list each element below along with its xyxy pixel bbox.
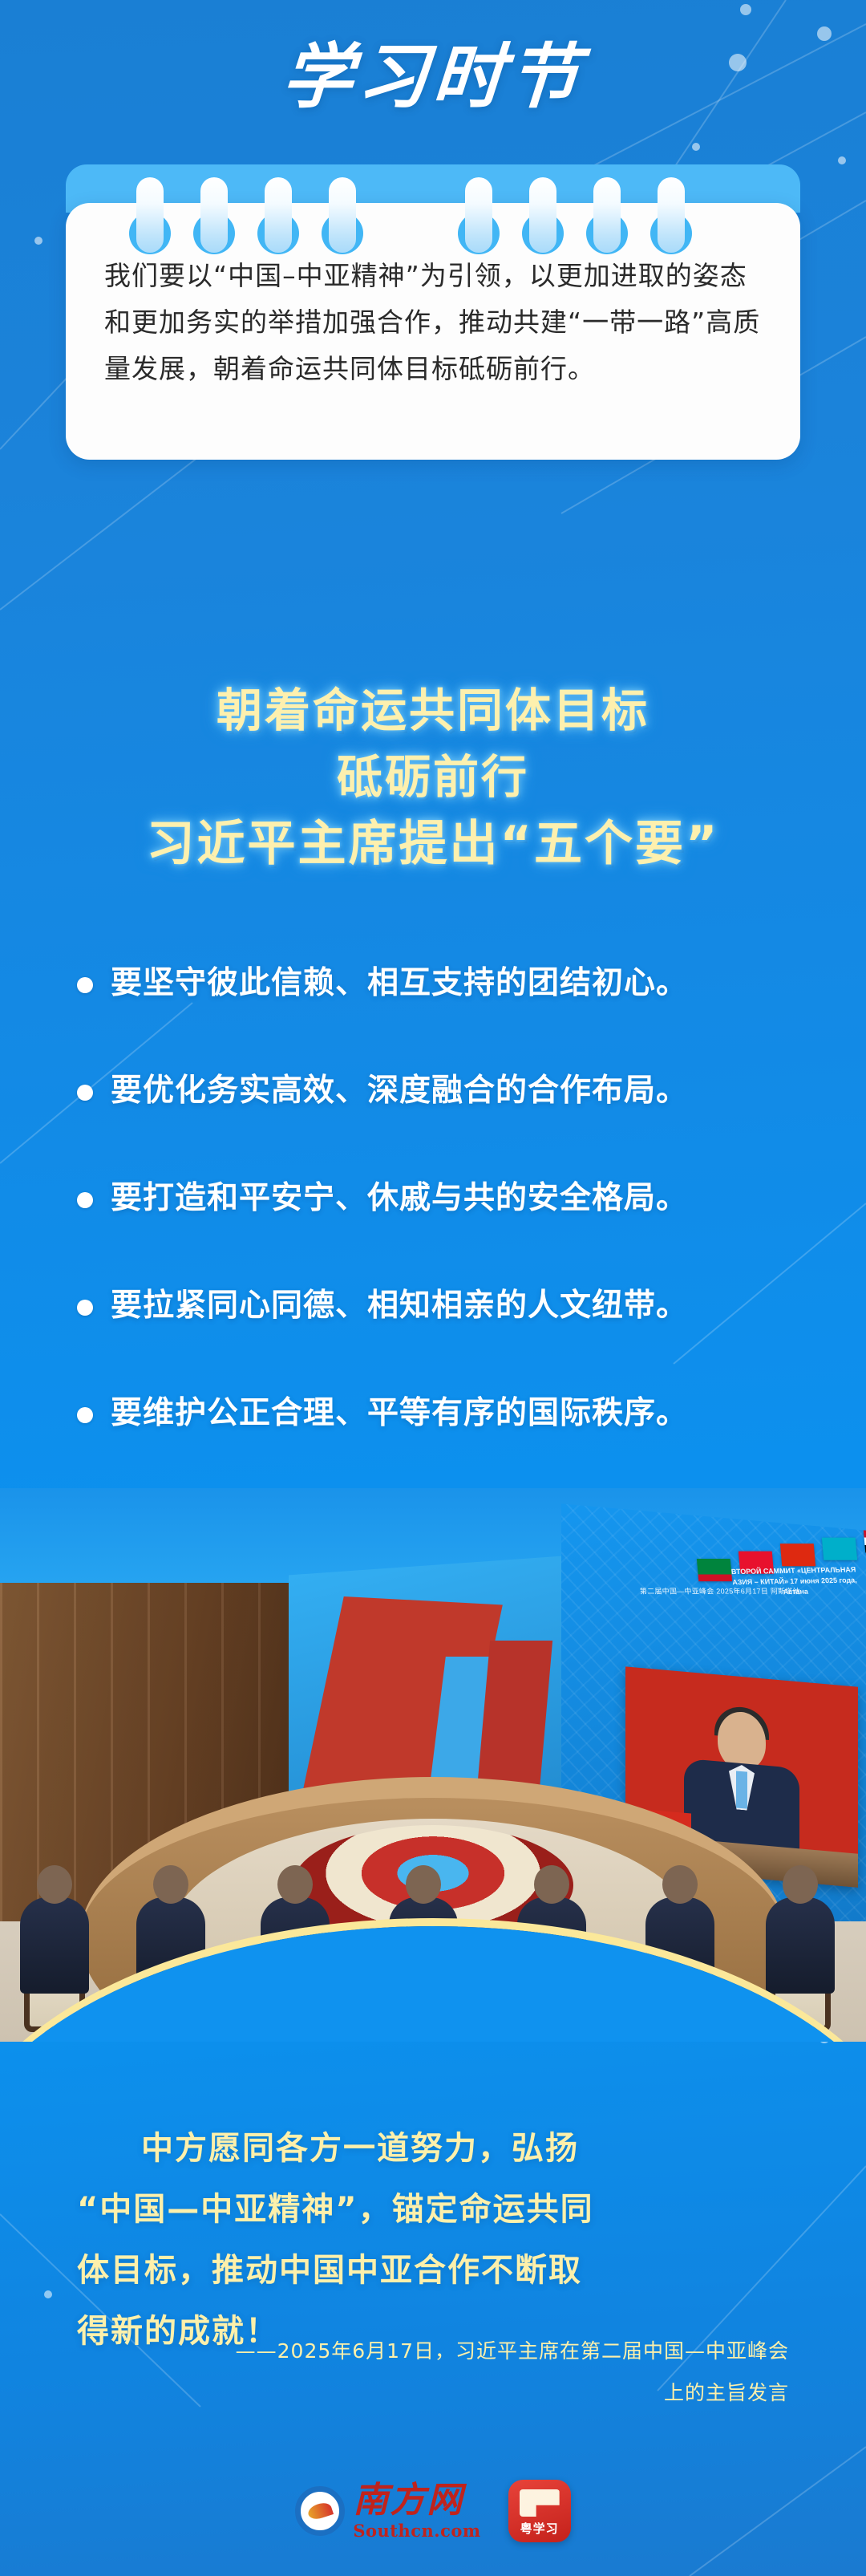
bullet-text: 要优化务实高效、深度融合的合作布局。 [111,1066,688,1114]
bullet-dot-icon [77,977,93,993]
flag-kazakhstan-icon [822,1538,857,1560]
book-icon [520,2489,560,2517]
delegate [20,1897,89,1994]
binder-ring-icon [265,177,292,254]
closing-quote-line-1: 中方愿同各方一道努力，弘扬 [77,2118,789,2179]
southcn-wordmark: 南方网 Southcn.com [353,2483,480,2539]
bullet-dot-icon [77,1192,93,1208]
bullet-text: 要打造和平安宁、休戚与共的安全格局。 [111,1174,688,1222]
summit-photo-image: 第二届中国—中亚峰会 2025年6月17日 阿斯塔纳 ВТОРОЙ САММИТ… [0,1488,866,2042]
headline-line-3: 习近平主席提出“五个要” [0,811,866,878]
delegate [766,1897,835,1994]
binder-ring-icon [529,177,556,254]
binder-ring-icon [136,177,164,254]
flag-china-icon [780,1544,815,1566]
yuexuexi-app-icon[interactable]: 粤学习 [508,2480,571,2542]
binder-ring-icon [465,177,492,254]
headline-line-2: 砥砺前行 [0,744,866,811]
bullet-dot-icon [77,1407,93,1423]
yuexuexi-label: 粤学习 [520,2520,559,2537]
poster-root: 学习时节 我们要以“中国–中亚精神”为引领，以更加进取的姿态和更加务实的举措加强… [0,0,866,2576]
binder-ring-icon [329,177,356,254]
bullet-dot-icon [77,1085,93,1101]
bullet-text: 要维护公正合理、平等有序的国际秩序。 [111,1389,688,1437]
poster-header: 学习时节 [0,0,866,152]
quote-attribution: ——2025年6月17日，习近平主席在第二届中国—中亚峰会 上的主旨发言 [77,2331,789,2414]
closing-quote: 中方愿同各方一道努力，弘扬 “中国—中亚精神”，锚定命运共同 体目标，推动中国中… [77,2118,789,2362]
bullet-text: 要坚守彼此信赖、相互支持的团结初心。 [111,959,688,1007]
list-item: 要拉紧同心同德、相知相亲的人文纽带。 [0,1281,866,1389]
list-item: 要坚守彼此信赖、相互支持的团结初心。 [0,959,866,1066]
southcn-name-cn: 南方网 [353,2483,480,2518]
southcn-name-en: Southcn.com [353,2522,480,2539]
bullet-text: 要拉紧同心同德、相知相亲的人文纽带。 [111,1281,688,1329]
binder-ring-icon [593,177,621,254]
summit-photo: 第二届中国—中亚峰会 2025年6月17日 阿斯塔纳 ВТОРОЙ САММИТ… [0,1488,866,2042]
screen-caption-ru: ВТОРОЙ САММИТ «ЦЕНТРАЛЬНАЯ АЗИЯ – КИТАЙ»… [725,1564,864,1598]
binder-ring-icon [200,177,228,254]
closing-quote-line-3: 体目标，推动中国中亚合作不断取 [77,2240,789,2301]
page-title: 学习时节 [280,41,586,112]
quote-text: 我们要以“中国–中亚精神”为引领，以更加进取的姿态和更加务实的举措加强合作，推动… [104,253,765,392]
footer-logos: 南方网 Southcn.com 粤学习 [0,2467,866,2555]
southcn-mark-icon [295,2486,345,2536]
list-item: 要打造和平安宁、休戚与共的安全格局。 [0,1174,866,1281]
attribution-line-2: 上的主旨发言 [77,2372,789,2414]
binder-ring-icon [658,177,685,254]
list-item: 要维护公正合理、平等有序的国际秩序。 [0,1389,866,1496]
speaker-tie [736,1771,747,1808]
southcn-logo[interactable]: 南方网 Southcn.com [295,2483,480,2539]
bullet-list: 要坚守彼此信赖、相互支持的团结初心。 要优化务实高效、深度融合的合作布局。 要打… [0,959,866,1496]
list-item: 要优化务实高效、深度融合的合作布局。 [0,1066,866,1174]
headline-line-1: 朝着命运共同体目标 [0,678,866,744]
headline-block: 朝着命运共同体目标 砥砺前行 习近平主席提出“五个要” [0,678,866,878]
attribution-line-1: ——2025年6月17日，习近平主席在第二届中国—中亚峰会 [77,2331,789,2372]
closing-quote-line-2: “中国—中亚精神”，锚定命运共同 [77,2179,789,2240]
bullet-dot-icon [77,1300,93,1316]
